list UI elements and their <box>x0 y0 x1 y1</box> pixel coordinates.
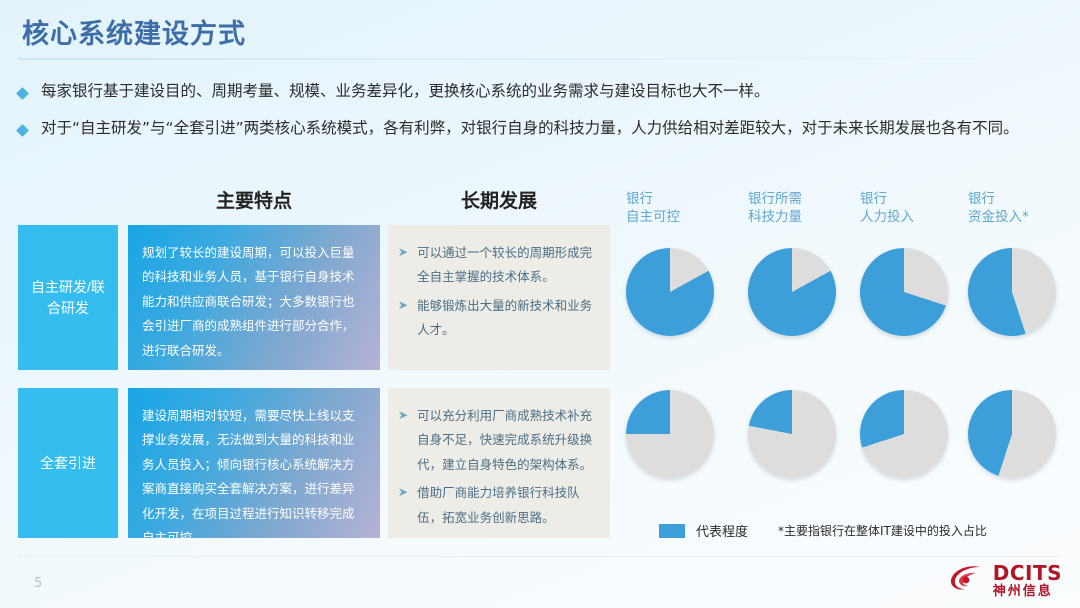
pie-header-line1: 银行 <box>968 190 1029 208</box>
row-description-0: 规划了较长的建设周期，可以投入巨量的科技和业务人员，基于银行自身技术能力和供应商… <box>128 225 380 370</box>
pie-header-line2: 人力投入 <box>860 208 914 226</box>
longterm-text: 可以通过一个较长的周期形成完全自主掌握的技术体系。 <box>417 241 598 290</box>
arrow-bullet-icon: ➤ <box>398 241 408 264</box>
bullet-list: 每家银行基于建设目的、周期考量、规模、业务差异化，更换核心系统的业务需求与建设目… <box>18 82 1062 157</box>
pie-column-header-1: 银行所需 科技力量 <box>748 190 802 226</box>
legend-swatch <box>659 524 685 538</box>
page-title: 核心系统建设方式 <box>22 12 246 51</box>
longterm-item: ➤ 可以充分利用厂商成熟技术补充自身不足，快速完成系统升级换代，建立自身特色的架… <box>398 404 598 477</box>
row-label-1: 全套引进 <box>18 388 118 538</box>
logo-text-cn: 神州信息 <box>993 585 1062 598</box>
page-number: 5 <box>34 576 42 591</box>
brand-logo: DCITS 神州信息 <box>946 562 1062 599</box>
dcits-swirl-icon <box>946 562 986 599</box>
diamond-bullet-icon <box>16 125 29 138</box>
pie-chart-r0-c1 <box>748 248 836 336</box>
column-header-longterm: 长期发展 <box>388 186 610 213</box>
longterm-text: 可以充分利用厂商成熟技术补充自身不足，快速完成系统升级换代，建立自身特色的架构体… <box>417 404 598 477</box>
row-description-1: 建设周期相对较短，需要尽快上线以支撑业务发展，无法做到大量的科技和业务人员投入；… <box>128 388 380 538</box>
column-header-features: 主要特点 <box>128 186 380 213</box>
pie-column-header-2: 银行 人力投入 <box>860 190 914 226</box>
pie-header-line1: 银行 <box>626 190 680 208</box>
bullet-item: 每家银行基于建设目的、周期考量、规模、业务差异化，更换核心系统的业务需求与建设目… <box>18 82 1062 101</box>
chart-footnote: *主要指银行在整体IT建设中的投入占比 <box>778 522 987 539</box>
pie-header-line2: 科技力量 <box>748 208 802 226</box>
logo-text-en: DCITS <box>993 563 1062 583</box>
arrow-bullet-icon: ➤ <box>398 294 408 317</box>
pie-column-header-0: 银行 自主可控 <box>626 190 680 226</box>
row-longterm-1: ➤ 可以充分利用厂商成熟技术补充自身不足，快速完成系统升级换代，建立自身特色的架… <box>388 388 610 538</box>
row-label-0: 自主研发/联合研发 <box>18 225 118 370</box>
pie-header-line2: 自主可控 <box>626 208 680 226</box>
pie-chart-r0-c3 <box>968 248 1056 336</box>
chart-legend: 代表程度 <box>659 521 748 540</box>
pie-chart-r1-c0 <box>626 390 714 478</box>
pie-chart-r0-c2 <box>860 248 948 336</box>
bullet-text: 对于“自主研发”与“全套引进”两类核心系统模式，各有利弊，对银行自身的科技力量，… <box>41 119 1019 138</box>
longterm-item: ➤ 借助厂商能力培养银行科技队伍，拓宽业务创新思路。 <box>398 481 598 530</box>
pie-chart-r0-c0 <box>626 248 714 336</box>
logo-text: DCITS 神州信息 <box>993 563 1062 598</box>
diamond-bullet-icon <box>16 87 29 100</box>
bullet-item: 对于“自主研发”与“全套引进”两类核心系统模式，各有利弊，对银行自身的科技力量，… <box>18 119 1062 138</box>
pie-header-line2: 资金投入* <box>968 208 1029 226</box>
longterm-text: 借助厂商能力培养银行科技队伍，拓宽业务创新思路。 <box>417 481 598 530</box>
longterm-item: ➤ 能够锻炼出大量的新技术和业务人才。 <box>398 294 598 343</box>
pie-chart-r1-c3 <box>968 390 1056 478</box>
pie-chart-r1-c2 <box>860 390 948 478</box>
bullet-text: 每家银行基于建设目的、周期考量、规模、业务差异化，更换核心系统的业务需求与建设目… <box>41 82 770 101</box>
pie-column-header-3: 银行 资金投入* <box>968 190 1029 226</box>
pie-chart-r1-c1 <box>748 390 836 478</box>
title-divider <box>18 58 1062 60</box>
arrow-bullet-icon: ➤ <box>398 481 408 504</box>
pie-header-line1: 银行 <box>860 190 914 208</box>
slide-root: 核心系统建设方式 每家银行基于建设目的、周期考量、规模、业务差异化，更换核心系统… <box>0 0 1080 608</box>
longterm-item: ➤ 可以通过一个较长的周期形成完全自主掌握的技术体系。 <box>398 241 598 290</box>
row-longterm-0: ➤ 可以通过一个较长的周期形成完全自主掌握的技术体系。 ➤ 能够锻炼出大量的新技… <box>388 225 610 370</box>
longterm-text: 能够锻炼出大量的新技术和业务人才。 <box>417 294 598 343</box>
footer-divider <box>18 556 1062 557</box>
legend-label: 代表程度 <box>696 521 748 540</box>
pie-header-line1: 银行所需 <box>748 190 802 208</box>
arrow-bullet-icon: ➤ <box>398 404 408 427</box>
